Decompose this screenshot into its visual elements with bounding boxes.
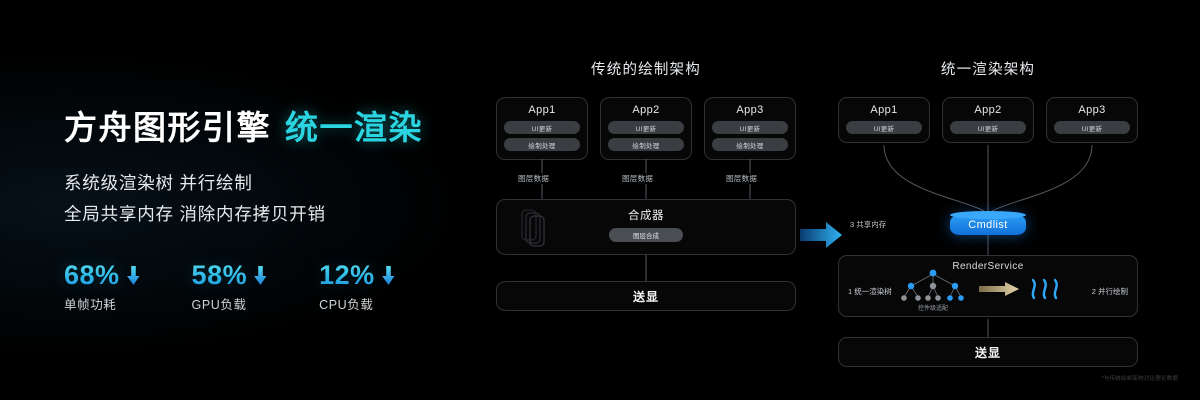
connector-label: 图层数据	[620, 173, 655, 184]
flow-arrow-icon	[979, 282, 1019, 296]
cylinder-top-icon	[950, 211, 1026, 219]
connector-label: 图层数据	[724, 173, 759, 184]
shared-memory-label: 3 共享内存	[850, 219, 886, 230]
cmdlist-node[interactable]: Cmdlist	[950, 215, 1026, 235]
output-label: 送显	[633, 288, 659, 305]
unified-output-box[interactable]: 送显	[838, 337, 1138, 367]
parallel-draw-icon	[1029, 278, 1063, 300]
render-service-box[interactable]: RenderService 1 统一渲染树	[838, 255, 1138, 317]
subtitle-block: 系统级渲染树 并行绘制 全局共享内存 消除内存拷贝开销	[64, 168, 484, 229]
slide-canvas: 方舟图形引擎统一渲染 系统级渲染树 并行绘制 全局共享内存 消除内存拷贝开销 6…	[0, 0, 1200, 400]
subtitle-line-1: 系统级渲染树 并行绘制	[64, 168, 484, 199]
render-tree-icon	[895, 268, 971, 302]
stat-item: 12% CPU负载	[319, 260, 395, 313]
transition-arrow-icon	[800, 222, 842, 248]
unified-diagram-title: 统一渲染架构	[838, 58, 1138, 79]
title-accent: 统一渲染	[285, 109, 423, 146]
traditional-diagram-title: 传统的绘制架构	[496, 58, 796, 79]
stat-item: 68% 单帧功耗	[64, 260, 140, 313]
stat-item: 58% GPU负载	[192, 260, 268, 313]
title-main: 方舟图形引擎	[64, 109, 271, 146]
render-service-title: RenderService	[839, 261, 1137, 272]
compositor-box[interactable]: 合成器 图层合成	[496, 199, 796, 255]
arrow-down-icon	[127, 266, 140, 285]
traditional-output-box[interactable]: 送显	[496, 281, 796, 311]
stats-row: 68% 单帧功耗 58% GPU负载	[64, 260, 484, 313]
stat-label: CPU负载	[319, 294, 395, 313]
stat-label: 单帧功耗	[64, 294, 140, 313]
stat-value: 12%	[319, 260, 375, 291]
connector-label: 图层数据	[516, 173, 551, 184]
hero-panel: 方舟图形引擎统一渲染 系统级渲染树 并行绘制 全局共享内存 消除内存拷贝开销 6…	[64, 110, 484, 313]
stat-value: 58%	[192, 260, 248, 291]
render-tree-caption: 控件级适配	[893, 303, 973, 312]
page-title: 方舟图形引擎统一渲染	[64, 110, 484, 146]
cmdlist-label: Cmdlist	[968, 219, 1007, 231]
compositor-pill: 图层合成	[609, 228, 683, 242]
traditional-architecture-diagram: 传统的绘制架构 App1 UI更新 绘制处理 App2 UI更新	[496, 58, 796, 367]
output-label: 送显	[975, 344, 1001, 361]
render-step-2-label: 2 并行绘制	[1092, 286, 1128, 297]
stat-value: 68%	[64, 260, 120, 291]
arrow-down-icon	[254, 266, 267, 285]
arrow-down-icon	[382, 266, 395, 285]
unified-architecture-diagram: 统一渲染架构 App1 UI更新 App2 UI更新	[838, 58, 1138, 367]
render-step-1-label: 1 统一渲染树	[848, 286, 892, 297]
phone-layers-icon	[521, 209, 547, 247]
stat-label: GPU负载	[192, 294, 268, 313]
footnote-text: *与传统绘制架构对比理论数据	[1102, 374, 1178, 382]
subtitle-line-2: 全局共享内存 消除内存拷贝开销	[64, 199, 484, 230]
